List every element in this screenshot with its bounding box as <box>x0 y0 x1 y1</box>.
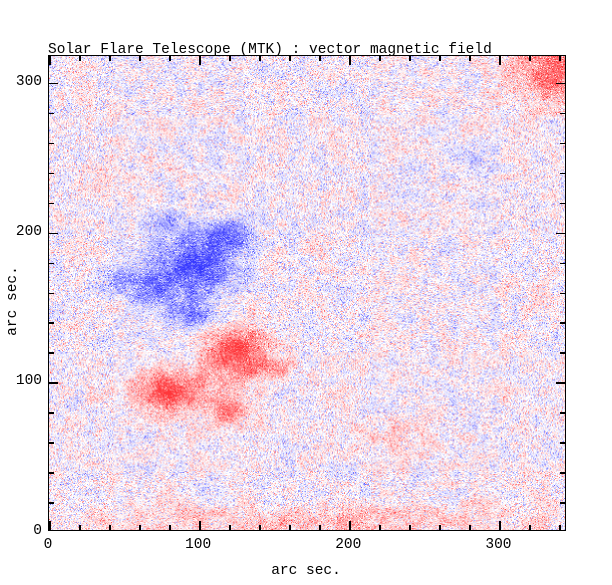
axis-tick <box>556 83 565 85</box>
axis-tick <box>349 521 351 530</box>
axis-tick <box>409 525 411 530</box>
axis-tick <box>469 525 471 530</box>
axis-tick <box>49 352 54 354</box>
axis-tick <box>49 143 54 145</box>
y-tick-label: 200 <box>0 224 42 240</box>
axis-tick <box>379 525 381 530</box>
axis-tick <box>560 472 565 474</box>
axis-tick <box>560 173 565 175</box>
magnetogram-figure: Solar Flare Telescope (MTK) : vector mag… <box>0 0 612 585</box>
axis-tick <box>556 382 565 384</box>
axis-tick <box>79 525 81 530</box>
axis-tick <box>139 525 141 530</box>
y-tick-label: 0 <box>0 523 42 539</box>
axis-tick <box>49 382 58 384</box>
axis-tick <box>259 56 261 61</box>
axis-tick <box>559 56 561 61</box>
magnetogram-image <box>49 56 565 530</box>
axis-tick <box>560 412 565 414</box>
axis-tick <box>169 56 171 61</box>
x-tick-label: 100 <box>185 537 211 553</box>
axis-tick <box>379 56 381 61</box>
axis-tick <box>49 263 54 265</box>
axis-tick <box>199 521 201 530</box>
axis-tick <box>289 56 291 61</box>
axis-tick <box>499 521 501 530</box>
axis-tick <box>49 521 51 530</box>
y-axis-title: arc sec. <box>5 266 21 336</box>
axis-tick <box>560 143 565 145</box>
axis-tick <box>559 525 561 530</box>
axis-tick <box>49 173 54 175</box>
axis-tick <box>560 322 565 324</box>
axis-tick <box>49 322 54 324</box>
axis-tick <box>229 56 231 61</box>
axis-tick <box>49 56 51 65</box>
axis-tick <box>289 525 291 530</box>
x-tick-label: 300 <box>485 537 511 553</box>
x-tick-label: 0 <box>44 537 53 553</box>
axis-tick <box>560 502 565 504</box>
axis-tick <box>49 113 54 115</box>
axis-tick <box>49 83 58 85</box>
axis-tick <box>49 412 54 414</box>
axis-tick <box>49 442 54 444</box>
axis-tick <box>409 56 411 61</box>
axis-tick <box>560 442 565 444</box>
axis-tick <box>560 293 565 295</box>
axis-tick <box>49 233 58 235</box>
x-axis-title: arc sec. <box>0 563 612 579</box>
axis-tick <box>529 525 531 530</box>
axis-tick <box>560 263 565 265</box>
axis-tick <box>169 525 171 530</box>
axis-tick <box>49 203 54 205</box>
axis-tick <box>259 525 261 530</box>
axis-tick <box>556 233 565 235</box>
axis-tick <box>109 525 111 530</box>
axis-tick <box>199 56 201 65</box>
axis-tick <box>469 56 471 61</box>
axis-tick <box>349 56 351 65</box>
axis-tick <box>560 113 565 115</box>
axis-tick <box>560 203 565 205</box>
magnetogram-plot-area <box>48 55 566 531</box>
axis-tick <box>229 525 231 530</box>
axis-tick <box>499 56 501 65</box>
axis-tick <box>439 525 441 530</box>
axis-tick <box>49 472 54 474</box>
axis-tick <box>319 525 321 530</box>
y-tick-label: 100 <box>0 373 42 389</box>
axis-tick <box>109 56 111 61</box>
axis-tick <box>49 293 54 295</box>
y-tick-label: 300 <box>0 74 42 90</box>
axis-tick <box>529 56 531 61</box>
x-tick-label: 200 <box>335 537 361 553</box>
axis-tick <box>79 56 81 61</box>
axis-tick <box>560 352 565 354</box>
axis-tick <box>49 502 54 504</box>
axis-tick <box>319 56 321 61</box>
axis-tick <box>439 56 441 61</box>
axis-tick <box>139 56 141 61</box>
